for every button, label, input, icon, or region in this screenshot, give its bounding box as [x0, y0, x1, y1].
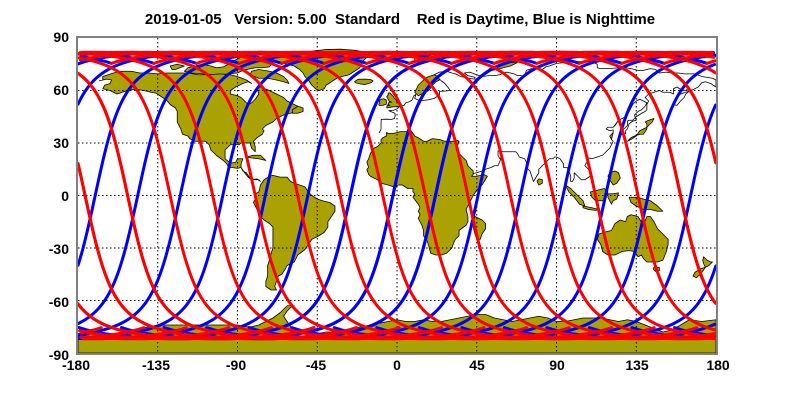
ytick-label-60: 60 [3, 82, 69, 98]
ytick-label-90: 90 [3, 29, 69, 45]
xtick-label-0: 0 [357, 357, 437, 373]
ytick-label-m60: -60 [3, 294, 69, 310]
ground-track-figure: 2019-01-05 Version: 5.00 Standard Red is… [0, 0, 800, 400]
xtick-label-90: 90 [517, 357, 597, 373]
ytick-label-0: 0 [3, 188, 69, 204]
map-canvas [78, 38, 716, 353]
xtick-label-m45: -45 [276, 357, 356, 373]
figure-title: 2019-01-05 Version: 5.00 Standard Red is… [0, 11, 800, 28]
ytick-label-30: 30 [3, 135, 69, 151]
xtick-label-180: 180 [678, 357, 758, 373]
xtick-label-135: 135 [597, 357, 677, 373]
xtick-label-m135: -135 [116, 357, 196, 373]
xtick-label-m90: -90 [196, 357, 276, 373]
ytick-label-m30: -30 [3, 241, 69, 257]
xtick-label-45: 45 [437, 357, 517, 373]
xtick-label-m180: -180 [36, 357, 116, 373]
plot-area [76, 36, 718, 355]
